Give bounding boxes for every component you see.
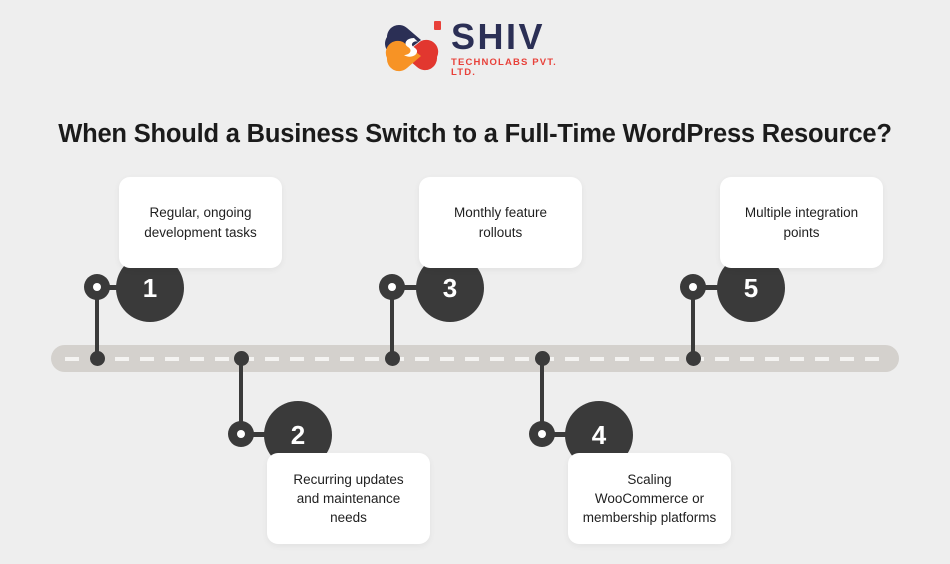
road-dot-3 <box>385 351 400 366</box>
timeline-card-5[interactable]: Multiple integration points <box>720 177 883 268</box>
timeline-card-2[interactable]: Recurring updates and maintenance needs <box>267 453 430 544</box>
brand-name: SHIV <box>451 19 573 55</box>
timeline-card-4[interactable]: Scaling WooCommerce or membership platfo… <box>568 453 731 544</box>
brand-tagline: TECHNOLABS PVT. LTD. <box>451 58 573 77</box>
node-ring-2 <box>228 421 254 447</box>
infographic-canvas: SHIV TECHNOLABS PVT. LTD. When Should a … <box>0 0 950 564</box>
node-ring-5 <box>680 274 706 300</box>
shiv-logo-icon <box>383 24 441 72</box>
node-ring-3 <box>379 274 405 300</box>
connector-stem-2 <box>239 360 243 424</box>
road-dot-5 <box>686 351 701 366</box>
timeline-dashes <box>65 357 885 361</box>
brand-i-dot-icon <box>434 21 441 30</box>
connector-stem-1 <box>95 294 99 358</box>
road-dot-1 <box>90 351 105 366</box>
timeline-bar <box>51 345 899 372</box>
node-ring-4 <box>529 421 555 447</box>
brand-logo: SHIV TECHNOLABS PVT. LTD. <box>383 20 573 76</box>
road-dot-4 <box>535 351 550 366</box>
timeline-card-3[interactable]: Monthly feature rollouts <box>419 177 582 268</box>
brand-wordmark: SHIV TECHNOLABS PVT. LTD. <box>451 19 573 77</box>
connector-stem-3 <box>390 294 394 358</box>
connector-stem-5 <box>691 294 695 358</box>
road-dot-2 <box>234 351 249 366</box>
node-ring-1 <box>84 274 110 300</box>
timeline-card-1[interactable]: Regular, ongoing development tasks <box>119 177 282 268</box>
page-title: When Should a Business Switch to a Full-… <box>0 120 950 149</box>
connector-stem-4 <box>540 360 544 424</box>
